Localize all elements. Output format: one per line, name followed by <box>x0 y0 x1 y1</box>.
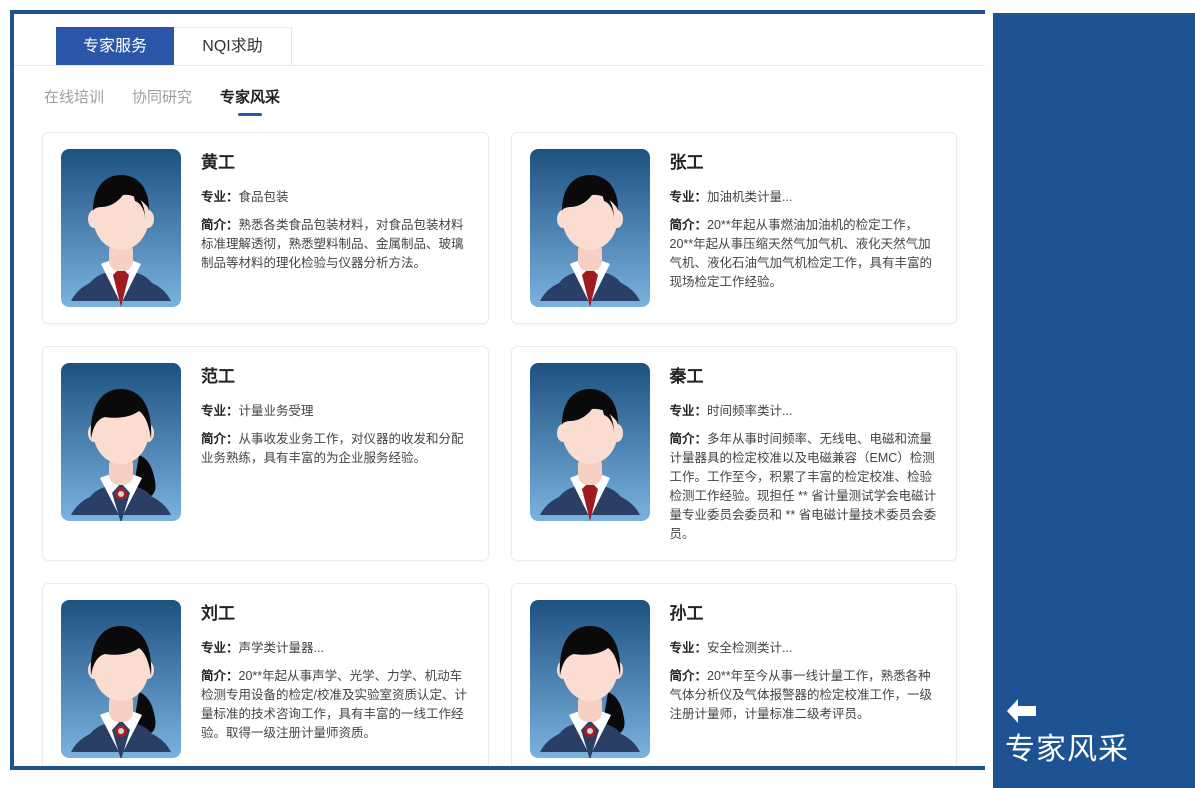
expert-card-grid: 黄工 专业：食品包装 简介：熟悉各类食品包装材料，对食品包装材料标准理解透彻，熟… <box>14 112 985 770</box>
bio-value: 多年从事时间频率、无线电、电磁和流量计量器具的检定校准以及电磁兼容（EMC）检测… <box>670 432 937 541</box>
expert-info: 范工 专业：计量业务受理 简介：从事收发业务工作，对仪器的收发和分配业务熟练，具… <box>201 363 472 544</box>
subtab-expert-showcase[interactable]: 专家风采 <box>220 86 280 115</box>
expert-major-row: 专业：食品包装 <box>201 188 472 207</box>
expert-card[interactable]: 范工 专业：计量业务受理 简介：从事收发业务工作，对仪器的收发和分配业务熟练，具… <box>42 346 489 561</box>
subtab-collaborative-research[interactable]: 协同研究 <box>132 86 192 115</box>
major-label: 专业： <box>201 641 239 655</box>
expert-info: 黄工 专业：食品包装 简介：熟悉各类食品包装材料，对食品包装材料标准理解透彻，熟… <box>201 149 472 307</box>
side-panel: 专家风采 <box>993 13 1195 788</box>
tab-nqi-help[interactable]: NQI求助 <box>174 27 292 65</box>
expert-major-row: 专业：时间频率类计... <box>670 402 941 421</box>
bio-label: 简介： <box>670 432 708 446</box>
expert-name: 张工 <box>670 151 941 175</box>
bio-label: 简介： <box>670 669 708 683</box>
expert-info: 孙工 专业：安全检测类计... 简介：20**年至今从事一线计量工作，熟悉各种气… <box>670 600 941 758</box>
primary-tab-list: 专家服务 NQI求助 <box>56 27 292 65</box>
expert-card[interactable]: 孙工 专业：安全检测类计... 简介：20**年至今从事一线计量工作，熟悉各种气… <box>511 583 958 770</box>
expert-bio-row: 简介：20**年起从事声学、光学、力学、机动车检测专用设备的检定/校准及实验室资… <box>201 667 472 743</box>
expert-card[interactable]: 刘工 专业：声学类计量器... 简介：20**年起从事声学、光学、力学、机动车检… <box>42 583 489 770</box>
bio-label: 简介： <box>670 218 708 232</box>
major-value: 安全检测类计... <box>707 641 792 655</box>
bio-label: 简介： <box>201 218 239 232</box>
expert-card[interactable]: 张工 专业：加油机类计量... 简介：20**年起从事燃油加油机的检定工作，20… <box>511 132 958 324</box>
bio-label: 简介： <box>201 432 239 446</box>
major-value: 时间频率类计... <box>707 404 792 418</box>
avatar <box>530 149 650 307</box>
expert-major-row: 专业：加油机类计量... <box>670 188 941 207</box>
side-panel-content: 专家风采 <box>1005 696 1185 770</box>
major-label: 专业： <box>670 190 708 204</box>
expert-major-row: 专业：安全检测类计... <box>670 639 941 658</box>
expert-bio-row: 简介：熟悉各类食品包装材料，对食品包装材料标准理解透彻，熟悉塑料制品、金属制品、… <box>201 216 472 273</box>
expert-name: 刘工 <box>201 602 472 626</box>
major-label: 专业： <box>670 404 708 418</box>
avatar <box>61 600 181 758</box>
bio-value: 20**年起从事燃油加油机的检定工作，20**年起从事压缩天然气加气机、液化天然… <box>670 218 933 289</box>
content-frame-inner: 专家服务 NQI求助 在线培训 协同研究 专家风采 <box>14 14 985 766</box>
expert-info: 刘工 专业：声学类计量器... 简介：20**年起从事声学、光学、力学、机动车检… <box>201 600 472 758</box>
expert-major-row: 专业：计量业务受理 <box>201 402 472 421</box>
expert-name: 孙工 <box>670 602 941 626</box>
avatar <box>61 363 181 521</box>
back-arrow-icon[interactable] <box>1005 696 1039 726</box>
bio-label: 简介： <box>201 669 239 683</box>
major-value: 食品包装 <box>239 190 289 204</box>
expert-name: 秦工 <box>670 365 941 389</box>
major-value: 加油机类计量... <box>707 190 792 204</box>
expert-bio-row: 简介：20**年至今从事一线计量工作，熟悉各种气体分析仪及气体报警器的检定校准工… <box>670 667 941 724</box>
avatar <box>61 149 181 307</box>
content-frame: 专家服务 NQI求助 在线培训 协同研究 专家风采 <box>10 10 985 770</box>
bio-value: 20**年起从事声学、光学、力学、机动车检测专用设备的检定/校准及实验室资质认定… <box>201 669 467 740</box>
major-value: 声学类计量器... <box>239 641 324 655</box>
expert-card[interactable]: 秦工 专业：时间频率类计... 简介：多年从事时间频率、无线电、电磁和流量计量器… <box>511 346 958 561</box>
major-label: 专业： <box>670 641 708 655</box>
primary-tabbar: 专家服务 NQI求助 <box>14 22 985 66</box>
major-value: 计量业务受理 <box>239 404 314 418</box>
major-label: 专业： <box>201 404 239 418</box>
expert-bio-row: 简介：从事收发业务工作，对仪器的收发和分配业务熟练，具有丰富的为企业服务经验。 <box>201 430 472 468</box>
expert-info: 张工 专业：加油机类计量... 简介：20**年起从事燃油加油机的检定工作，20… <box>670 149 941 307</box>
tab-expert-service[interactable]: 专家服务 <box>56 27 174 65</box>
secondary-tab-list: 在线培训 协同研究 专家风采 <box>14 66 985 112</box>
avatar <box>530 363 650 521</box>
subtab-online-training[interactable]: 在线培训 <box>44 86 104 115</box>
expert-info: 秦工 专业：时间频率类计... 简介：多年从事时间频率、无线电、电磁和流量计量器… <box>670 363 941 544</box>
expert-name: 范工 <box>201 365 472 389</box>
side-panel-title: 专家风采 <box>1005 730 1185 770</box>
avatar <box>530 600 650 758</box>
expert-bio-row: 简介：20**年起从事燃油加油机的检定工作，20**年起从事压缩天然气加气机、液… <box>670 216 941 292</box>
expert-card[interactable]: 黄工 专业：食品包装 简介：熟悉各类食品包装材料，对食品包装材料标准理解透彻，熟… <box>42 132 489 324</box>
bio-value: 熟悉各类食品包装材料，对食品包装材料标准理解透彻，熟悉塑料制品、金属制品、玻璃制… <box>201 218 464 270</box>
major-label: 专业： <box>201 190 239 204</box>
expert-name: 黄工 <box>201 151 472 175</box>
bio-value: 20**年至今从事一线计量工作，熟悉各种气体分析仪及气体报警器的检定校准工作，一… <box>670 669 933 721</box>
expert-bio-row: 简介：多年从事时间频率、无线电、电磁和流量计量器具的检定校准以及电磁兼容（EMC… <box>670 430 941 544</box>
expert-major-row: 专业：声学类计量器... <box>201 639 472 658</box>
bio-value: 从事收发业务工作，对仪器的收发和分配业务熟练，具有丰富的为企业服务经验。 <box>201 432 464 465</box>
page-root: 专家服务 NQI求助 在线培训 协同研究 专家风采 <box>0 0 1195 788</box>
